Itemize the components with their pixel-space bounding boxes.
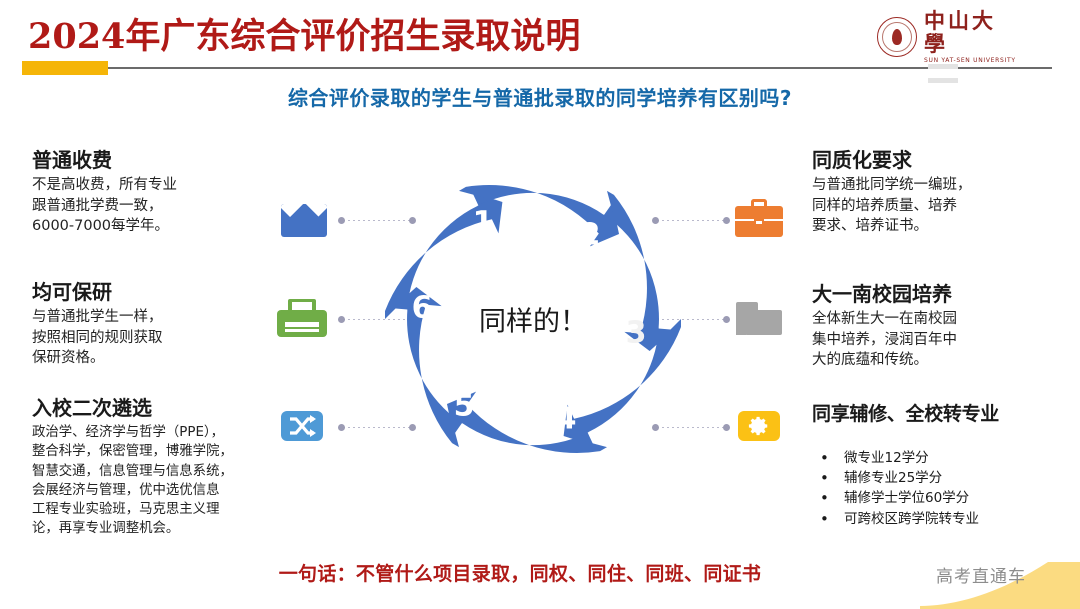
header-divider	[22, 67, 1052, 69]
list-item: 微专业12学分	[816, 448, 1080, 468]
minor-credits-list: 微专业12学分 辅修专业25学分 辅修学士学位60学分 可跨校区跨学院转专业	[812, 448, 1080, 529]
cycle-number-5: 5	[454, 389, 475, 424]
text-line: 与普通批同学统一编班，	[812, 175, 1074, 196]
left-block-fees-body: 不是高收费，所有专业 跟普通批学费一致， 6000-7000每学年。	[32, 175, 312, 237]
list-item: 辅修专业25学分	[816, 468, 1080, 488]
gear-icon	[738, 411, 780, 441]
right-block-southcampus-body: 全体新生大一在南校园 集中培养，浸润百年中 大的底蕴和传统。	[812, 309, 1074, 371]
text-line: 工程专业实验班，马克思主义理	[32, 500, 324, 519]
page-subtitle: 综合评价录取的学生与普通批录取的同学培养有区别吗?	[0, 82, 1080, 111]
list-item: 可跨校区跨学院转专业	[816, 509, 1080, 529]
left-block-fees-heading: 普通收费	[32, 148, 312, 172]
left-block-postgrad-body: 与普通批学生一样， 按照相同的规则获取 保研资格。	[32, 307, 312, 369]
left-block-postgrad: 均可保研 与普通批学生一样， 按照相同的规则获取 保研资格。	[32, 280, 312, 369]
text-line: 论，再享专业调整机会。	[32, 519, 324, 538]
left-block-postgrad-heading: 均可保研	[32, 280, 312, 304]
cycle-number-1: 1	[473, 206, 494, 241]
right-block-southcampus: 大一南校园培养 全体新生大一在南校园 集中培养，浸润百年中 大的底蕴和传统。	[812, 282, 1074, 371]
envelope-icon	[281, 204, 327, 237]
text-line: 保研资格。	[32, 348, 312, 369]
left-block-fees: 普通收费 不是高收费，所有专业 跟普通批学费一致， 6000-7000每学年。	[32, 148, 312, 237]
folder-icon	[736, 300, 782, 335]
text-line: 按照相同的规则获取	[32, 328, 312, 349]
text-line: 要求、培养证书。	[812, 216, 1074, 237]
cycle-number-4: 4	[556, 402, 577, 437]
cycle-diagram: 1 2 3 4 5 6 同样的！	[352, 138, 714, 500]
slide-canvas: 2024年广东综合评价招生录取说明 中山大學 SUN YAT-SEN UNIVE…	[0, 0, 1080, 609]
university-logo: 中山大學 SUN YAT-SEN UNIVERSITY	[877, 14, 1017, 60]
shuffle-icon	[281, 411, 323, 441]
cycle-center-label: 同样的！	[479, 300, 587, 339]
right-block-minor: 同享辅修、全校转专业 微专业12学分 辅修专业25学分 辅修学士学位60学分 可…	[812, 403, 1080, 529]
right-block-homogeneous-heading: 同质化要求	[812, 148, 1074, 172]
briefcase-icon	[735, 199, 783, 237]
text-line: 与普通批学生一样，	[32, 307, 312, 328]
logo-text-group: 中山大學 SUN YAT-SEN UNIVERSITY	[924, 10, 1017, 63]
logo-name-cn: 中山大學	[924, 10, 1017, 54]
cycle-number-6: 6	[412, 291, 433, 326]
printer-icon	[277, 299, 327, 337]
right-block-minor-heading: 同享辅修、全校转专业	[812, 403, 1080, 426]
page-title: 2024年广东综合评价招生录取说明	[28, 8, 580, 59]
list-item: 辅修学士学位60学分	[816, 488, 1080, 508]
decorative-strip-top	[928, 64, 958, 69]
header-accent-bar	[22, 61, 108, 75]
text-line: 6000-7000每学年。	[32, 216, 312, 237]
footer-summary: 一句话：不管什么项目录取，同权、同住、同班、同证书	[0, 559, 1040, 586]
text-line: 智慧交通，信息管理与信息系统，	[32, 462, 324, 481]
text-line: 集中培养，浸润百年中	[812, 330, 1074, 351]
logo-name-en: SUN YAT-SEN UNIVERSITY	[924, 57, 1017, 64]
text-line: 会展经济与管理，优中选优信息	[32, 481, 324, 500]
seal-icon	[877, 17, 917, 57]
cycle-number-2: 2	[580, 218, 601, 253]
cycle-number-3: 3	[626, 316, 647, 351]
text-line: 大的底蕴和传统。	[812, 350, 1074, 371]
text-line: 整合科学，保密管理，博雅学院，	[32, 442, 324, 461]
right-block-southcampus-heading: 大一南校园培养	[812, 282, 1074, 306]
text-line: 全体新生大一在南校园	[812, 309, 1074, 330]
watermark-label: 高考直通车	[936, 562, 1026, 587]
text-line: 同样的培养质量、培养	[812, 196, 1074, 217]
right-block-homogeneous-body: 与普通批同学统一编班， 同样的培养质量、培养 要求、培养证书。	[812, 175, 1074, 237]
text-line: 不是高收费，所有专业	[32, 175, 312, 196]
text-line: 跟普通批学费一致，	[32, 196, 312, 217]
right-block-homogeneous: 同质化要求 与普通批同学统一编班， 同样的培养质量、培养 要求、培养证书。	[812, 148, 1074, 237]
